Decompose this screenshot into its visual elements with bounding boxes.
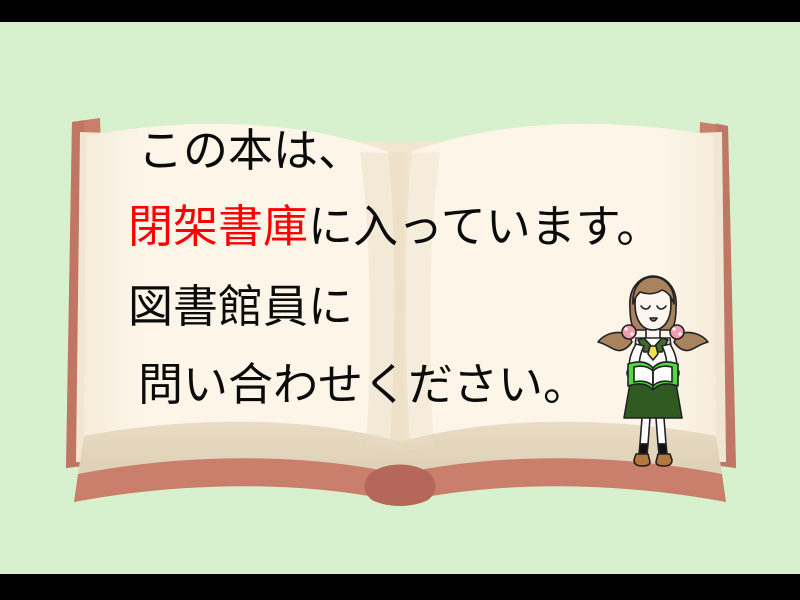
girl-reading-illustration [588,268,718,468]
leg-right [656,418,666,444]
screenshot-canvas: この本は、 閉架書庫に入っています。 図書館員に 問い合わせください。 [0,0,800,600]
mouth [650,318,657,321]
ankle-sock-right [658,444,667,454]
letterbox-bar-top [0,0,800,22]
shoe-left [634,454,650,466]
leg-left [640,418,650,444]
hair-tie-left [622,325,636,339]
book-spine-bulge [365,465,436,507]
book-page-left [84,124,400,442]
shoe-right [656,454,672,466]
hair-tie-right [670,325,684,339]
letterbox-bar-bottom [0,574,800,600]
ankle-sock-left [639,444,648,454]
